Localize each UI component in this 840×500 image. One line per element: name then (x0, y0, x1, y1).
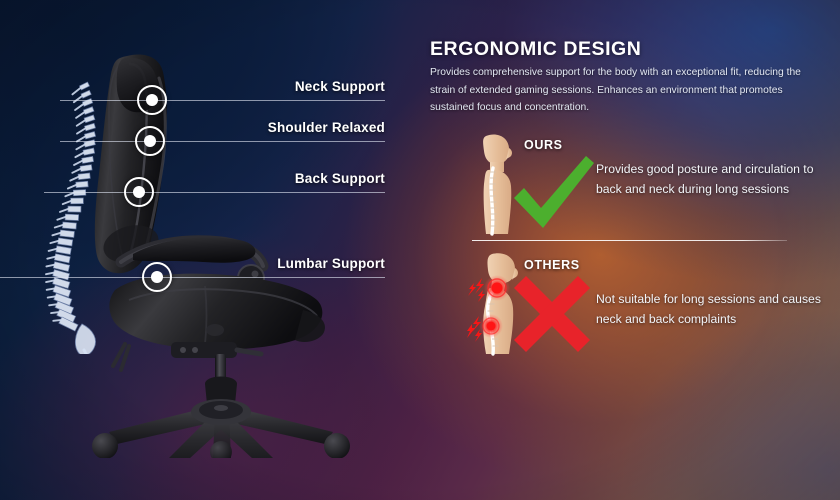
callout-marker[interactable] (137, 85, 167, 115)
others-label: OTHERS (524, 258, 580, 272)
callout-line (44, 192, 385, 193)
info-pane: ERGONOMIC DESIGN Provides comprehensive … (420, 0, 840, 500)
ours-label: OURS (524, 138, 563, 152)
callout-marker[interactable] (142, 262, 172, 292)
section-divider (472, 240, 787, 241)
ours-description: Provides good posture and circulation to… (596, 160, 821, 200)
infographic-canvas: Neck SupportShoulder RelaxedBack Support… (0, 0, 840, 500)
callout-line (60, 141, 385, 142)
page-title: ERGONOMIC DESIGN (430, 38, 641, 61)
gaming-chair-icon (55, 48, 355, 458)
callout-label: Shoulder Relaxed (268, 120, 385, 135)
red-cross-icon (506, 272, 598, 358)
callout-label: Back Support (295, 171, 385, 186)
callout-marker[interactable] (135, 126, 165, 156)
callout-line (60, 100, 385, 101)
product-illustration-pane: Neck SupportShoulder RelaxedBack Support… (0, 0, 420, 500)
callout-label: Lumbar Support (277, 256, 385, 271)
chair-seat (109, 274, 322, 350)
description-text: Provides comprehensive support for the b… (430, 64, 824, 117)
others-description: Not suitable for long sessions and cause… (596, 290, 821, 330)
callout-label: Neck Support (295, 79, 385, 94)
green-check-icon (506, 152, 598, 238)
callout-marker[interactable] (124, 177, 154, 207)
comparison-row-ours: OURS Provides good posture and circulati… (420, 130, 840, 240)
comparison-row-others: OTHERS Not suitable for long sessions an… (420, 250, 840, 360)
callout-line (0, 277, 385, 278)
